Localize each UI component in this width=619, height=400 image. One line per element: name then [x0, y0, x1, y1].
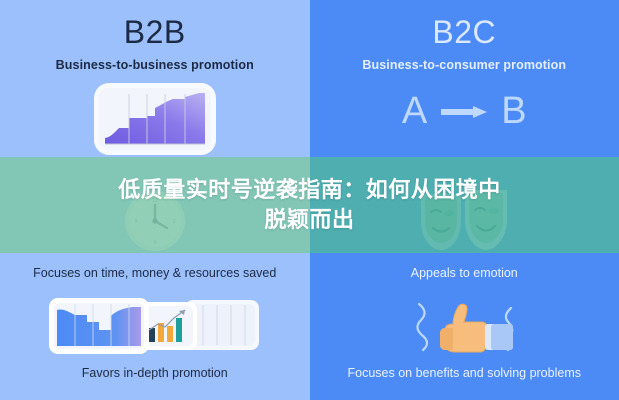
theater-masks-icon [415, 186, 513, 260]
arrow-right-icon [441, 106, 487, 117]
svg-text:12: 12 [152, 198, 158, 204]
b2c-subtitle: Business-to-consumer promotion [310, 58, 619, 72]
b2c-title: B2C [310, 14, 619, 51]
thumbs-up-icon [401, 294, 527, 360]
flow-label-a: A [402, 92, 427, 130]
svg-text:6: 6 [153, 240, 156, 246]
clock-icon: 12 3 6 9 [122, 188, 188, 254]
step-area-chart-icon [99, 88, 211, 150]
svg-text:9: 9 [134, 219, 137, 225]
b2b-bottom-caption: Favors in-depth promotion [0, 366, 310, 380]
b2c-mid-caption: Appeals to emotion [310, 266, 619, 280]
b2b-subtitle: Business-to-business promotion [0, 58, 310, 72]
column-b2b: B2B Business-to-business promotion [0, 0, 310, 400]
b2b-mid-caption: Focuses on time, money & resources saved [0, 266, 310, 280]
infographic-canvas: B2B Business-to-business promotion [0, 0, 619, 400]
b2b-title: B2B [0, 14, 310, 51]
flow-label-b: B [501, 92, 526, 130]
svg-text:3: 3 [172, 219, 175, 225]
column-b2c: B2C Business-to-consumer promotion A B A… [310, 0, 619, 400]
b2c-bottom-caption: Focuses on benefits and solving problems [310, 366, 619, 380]
a-to-b-flow: A B [310, 92, 619, 130]
analytics-cards-icon [45, 296, 265, 358]
